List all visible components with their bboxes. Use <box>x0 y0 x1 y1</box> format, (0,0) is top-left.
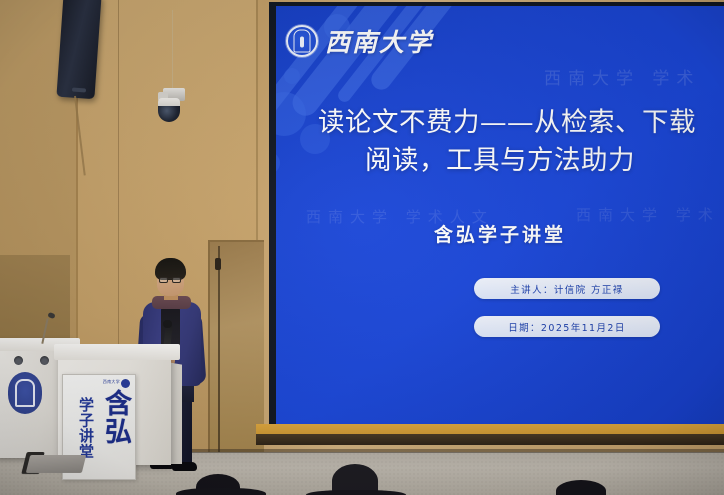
speaker-info-pill: 主讲人：计信院 方正禄 <box>474 278 660 299</box>
lecture-hall-photo: 西南大学 西南大学 学术 西南大学 学术人文 西南大学 学术 读论文不费力——从… <box>0 0 724 495</box>
microphone-head <box>163 320 172 328</box>
audience-shoulders <box>306 490 406 495</box>
slide-title-line1: 读论文不费力——从检索、下载 <box>290 104 724 142</box>
audience-shoulders <box>176 488 266 495</box>
door-edge <box>218 246 220 452</box>
slide-title: 读论文不费力——从检索、下载 阅读，工具与方法助力 <box>276 104 724 181</box>
speaker-info-text: 主讲人：计信院 方正禄 <box>510 282 623 296</box>
banner-subline: 学子讲堂 <box>70 397 94 459</box>
brand-lockup: 西南大学 <box>286 23 433 59</box>
camera-wire <box>172 10 173 92</box>
slide-watermark: 西南大学 学术 <box>544 64 700 89</box>
door-knob <box>215 258 221 270</box>
main-podium-top <box>54 344 180 360</box>
university-emblem-icon <box>8 372 42 414</box>
banner-seal-text: 西南大学 <box>103 379 120 385</box>
wall-speaker-icon <box>56 0 101 99</box>
decor-blob <box>284 68 300 84</box>
wall-recess <box>0 255 70 345</box>
date-info-text: 日期：2025年11月2日 <box>508 320 626 334</box>
projection-screen: 西南大学 西南大学 学术 西南大学 学术人文 西南大学 学术 读论文不费力——从… <box>276 6 724 424</box>
slide-subtitle: 含弘学子讲堂 <box>276 220 724 247</box>
slide-title-line2: 阅读，工具与方法助力 <box>276 142 724 180</box>
university-name: 西南大学 <box>325 23 433 59</box>
university-seal-icon <box>121 379 130 388</box>
baseboard <box>256 434 724 445</box>
glasses-lens-right <box>172 277 181 283</box>
university-seal-icon <box>286 25 318 57</box>
laptop <box>26 455 86 473</box>
glasses-lens-left <box>159 277 168 283</box>
podium-knob <box>40 356 49 365</box>
doorway <box>208 240 264 452</box>
audience-head <box>556 480 606 495</box>
podium-knob <box>14 356 23 365</box>
date-info-pill: 日期：2025年11月2日 <box>474 316 660 337</box>
banner-headline: 含弘 <box>95 389 129 445</box>
